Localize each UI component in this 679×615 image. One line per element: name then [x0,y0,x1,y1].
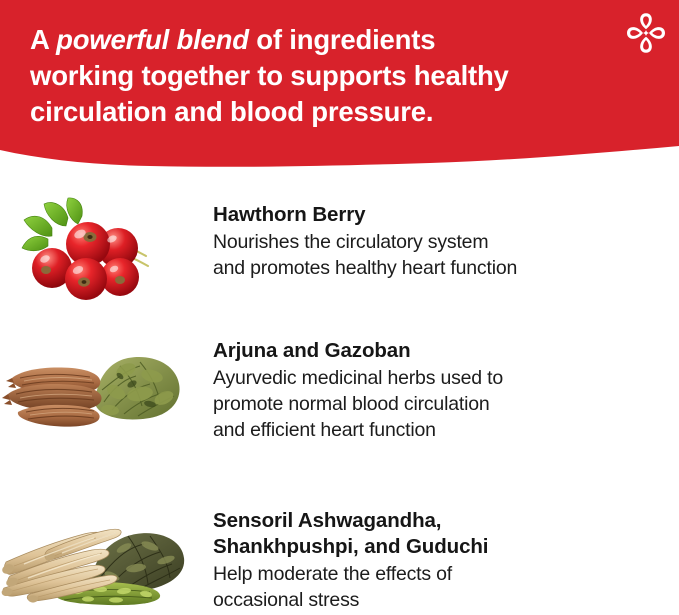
list-item: Hawthorn Berry Nourishes the circulatory… [0,196,679,306]
ingredient-description: Ayurvedic medicinal herbs used to promot… [213,365,679,443]
title-line: Hawthorn Berry [213,202,679,228]
desc-line: Help moderate the effects of [213,561,679,587]
desc-line: and promotes healthy heart function [213,255,679,281]
desc-line: Ayurvedic medicinal herbs used to [213,365,679,391]
ashwagandha-roots-and-herbs-photo [0,502,190,612]
headline-line-1: A powerful blend of ingredients [30,22,630,58]
ingredient-text: Sensoril Ashwagandha, Shankhpushpi, and … [190,502,679,613]
four-petal-flower-icon [626,12,666,54]
arjuna-bark-and-herbs-photo [0,332,190,442]
list-item: Arjuna and Gazoban Ayurvedic medicinal h… [0,332,679,443]
headline-text-b: of ingredients [249,24,435,55]
headline-line-2: working together to supports healthy [30,58,630,94]
ingredient-title: Hawthorn Berry [213,202,679,228]
ingredient-description: Nourishes the circulatory system and pro… [213,229,679,281]
ingredient-title: Arjuna and Gazoban [213,338,679,364]
title-line: Shankhpushpi, and Guduchi [213,534,679,560]
ingredient-text: Hawthorn Berry Nourishes the circulatory… [190,196,679,281]
title-line: Arjuna and Gazoban [213,338,679,364]
title-line: Sensoril Ashwagandha, [213,508,679,534]
headline-text-a: A [30,24,56,55]
list-item: Sensoril Ashwagandha, Shankhpushpi, and … [0,502,679,613]
desc-line: promote normal blood circulation [213,391,679,417]
ingredient-text: Arjuna and Gazoban Ayurvedic medicinal h… [190,332,679,443]
headline: A powerful blend of ingredients working … [30,22,630,130]
headline-emphasis: powerful blend [56,24,249,55]
hawthorn-berries-photo [0,196,190,306]
header-banner: A powerful blend of ingredients working … [0,0,679,172]
desc-line: and efficient heart function [213,417,679,443]
ingredient-description: Help moderate the effects of occasional … [213,561,679,613]
headline-line-3: circulation and blood pressure. [30,94,630,130]
desc-line: occasional stress [213,587,679,613]
desc-line: Nourishes the circulatory system [213,229,679,255]
ingredient-title: Sensoril Ashwagandha, Shankhpushpi, and … [213,508,679,560]
